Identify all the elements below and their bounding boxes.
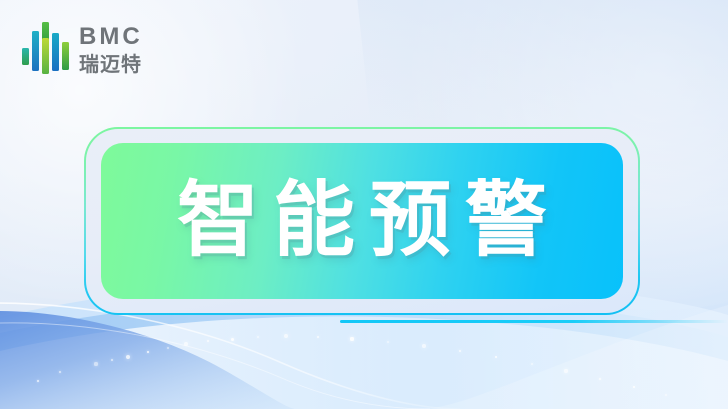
logo-bar-6: [62, 42, 69, 70]
logo-bar-2: [32, 31, 39, 71]
wave-sparkle: [207, 340, 209, 342]
wave-sparkle: [257, 336, 259, 338]
bmc-logo[interactable]: BMC 瑞迈特: [22, 20, 143, 78]
wave-sparkle: [459, 350, 461, 352]
wave-sparkle: [231, 338, 234, 341]
wave-sparkle: [633, 386, 636, 389]
logo-bar-1: [22, 48, 29, 65]
accent-hairline: [340, 320, 728, 323]
wave-sparkle: [564, 369, 567, 372]
wave-sparkle: [422, 344, 426, 348]
wave-sparkle: [495, 356, 498, 359]
logo-bars-icon: [22, 20, 70, 78]
page-title: 智能预警: [163, 180, 561, 262]
hero-card[interactable]: 智能预警: [101, 143, 623, 299]
wave-sparkle: [531, 363, 533, 365]
wave-sparkle: [350, 337, 353, 340]
wave-sparkle: [599, 378, 601, 380]
wave-sparkle: [167, 347, 169, 349]
logo-brand-text: BMC: [79, 25, 143, 49]
wave-sparkle: [317, 336, 320, 339]
wave-sparkle: [126, 355, 130, 359]
logo-chinese-text: 瑞迈特: [79, 54, 143, 74]
wave-sparkle: [665, 394, 667, 396]
wave-sparkle: [59, 371, 61, 373]
hero-card-frame-inner: 智能预警: [86, 129, 638, 313]
wave-sparkle: [284, 334, 288, 338]
logo-bar-4: [42, 38, 49, 74]
wave-sparkle: [94, 362, 97, 365]
wave-sparkle: [184, 342, 188, 346]
hero-card-frame: 智能预警: [84, 127, 640, 315]
slide-canvas: BMC 瑞迈特 智能预警: [0, 0, 728, 409]
logo-bar-5: [52, 33, 59, 71]
wave-sparkle: [147, 351, 150, 354]
wave-sparkle: [37, 380, 39, 382]
wave-sparkle: [111, 359, 113, 361]
wave-sparkle: [387, 341, 389, 343]
logo-wordmark: BMC 瑞迈特: [79, 25, 143, 74]
